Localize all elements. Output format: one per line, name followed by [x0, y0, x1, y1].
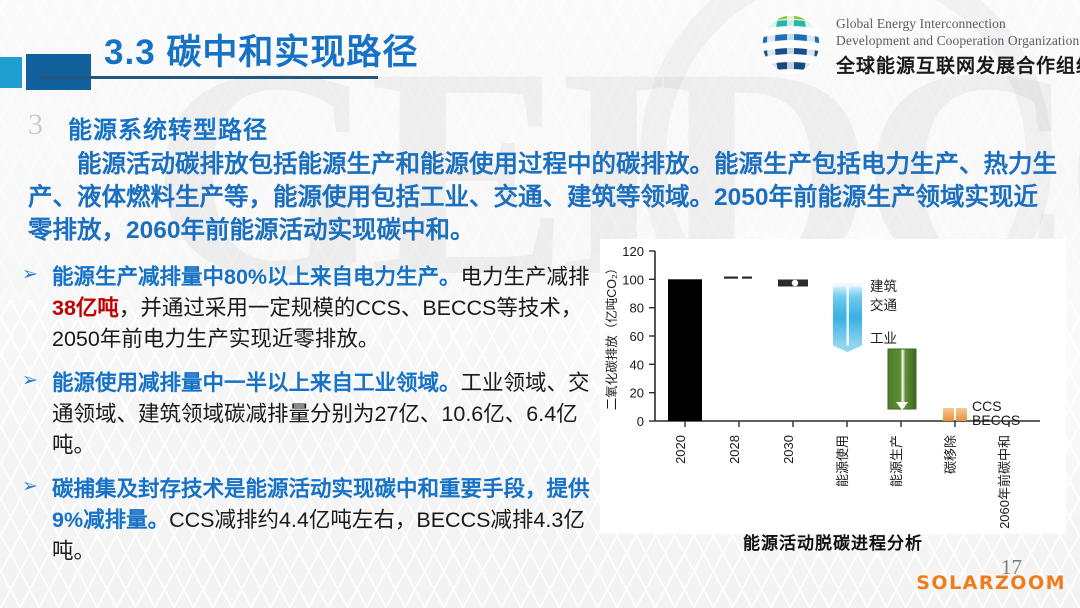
annotation-beccs: BECCS: [972, 412, 1020, 428]
logo-chinese-name: 全球能源互联网发展合作组织: [836, 51, 1080, 78]
bar-2028: [724, 277, 752, 279]
header-accent-navy: [26, 54, 91, 90]
chart-caption: 能源活动脱碳进程分析: [600, 529, 1066, 554]
bullet-text: 碳捕集及封存技术是能源活动实现碳中和重要手段，提供9%减排量。CCS减排约4.4…: [52, 474, 592, 567]
bullet-highlight: 能源使用减排量中一半以上来自工业领域。: [52, 371, 461, 395]
svg-text:碳移除: 碳移除: [943, 435, 958, 474]
intro-paragraph: 能源活动碳排放包括能源生产和能源使用过程中的碳排放。能源生产包括电力生产、热力生…: [28, 148, 1062, 247]
bar-energy-use: [833, 284, 862, 353]
svg-text:能源生产: 能源生产: [889, 435, 904, 487]
bar-energy-production: [888, 349, 916, 410]
list-item: ➢ 能源使用减排量中一半以上来自工业领域。工业领域、交通领域、建筑领域碳减排量分…: [22, 368, 592, 461]
bullet-arrow-icon: ➢: [22, 370, 38, 392]
slide: GEIDCO 3.3 碳中和实现路径: [0, 0, 1080, 608]
svg-text:2028: 2028: [727, 435, 742, 464]
svg-text:2030: 2030: [781, 435, 796, 464]
svg-text:2020: 2020: [673, 435, 688, 464]
page-title: 3.3 碳中和实现路径: [104, 24, 418, 75]
bullet-arrow-icon: ➢: [22, 264, 38, 286]
chart-panel: 120 100 80 60 40 20 0 二氧化碳排放（亿吨CO₂）: [600, 239, 1066, 534]
bullet-text: 能源生产减排量中80%以上来自电力生产。电力生产减排38亿吨，并通过采用一定规模…: [52, 262, 592, 355]
organization-logo: Global Energy Interconnection Developmen…: [758, 10, 1070, 82]
list-item: ➢ 碳捕集及封存技术是能源活动实现碳中和重要手段，提供9%减排量。CCS减排约4…: [22, 474, 592, 567]
bullet-rest-2: ，并通过采用一定规模的CCS、BECCS等技术，2050年前电力生产实现近零排放…: [52, 296, 582, 351]
svg-text:40: 40: [630, 357, 644, 372]
svg-text:80: 80: [630, 301, 644, 316]
y-axis-label: 二氧化碳排放（亿吨CO₂）: [604, 262, 619, 411]
header-accent-cyan: [0, 57, 22, 88]
svg-text:60: 60: [630, 329, 644, 344]
annotation-building: 建筑: [870, 279, 898, 294]
section-title: 能源系统转型路径: [68, 110, 268, 145]
annotation-industry: 工业: [870, 331, 897, 346]
bullet-highlight: 能源生产减排量中80%以上来自电力生产。: [52, 265, 461, 289]
bar-2030: [778, 280, 808, 287]
svg-text:2060年前碳中和: 2060年前碳中和: [997, 435, 1012, 529]
bullet-text: 能源使用减排量中一半以上来自工业领域。工业领域、交通领域、建筑领域碳减排量分别为…: [52, 368, 592, 461]
annotation-transport: 交通: [870, 297, 898, 313]
svg-text:20: 20: [630, 386, 644, 401]
slide-header: 3.3 碳中和实现路径: [0, 0, 1080, 92]
svg-text:100: 100: [622, 272, 644, 287]
section-number: 3: [28, 108, 43, 142]
logo-english-line2: Development and Cooperation Organization: [836, 33, 1079, 49]
bullet-emphasis-red: 38亿吨: [52, 296, 119, 320]
bar-2020: [668, 279, 702, 421]
svg-text:120: 120: [622, 244, 644, 259]
logo-english-line1: Global Energy Interconnection: [836, 16, 1006, 32]
list-item: ➢ 能源生产减排量中80%以上来自电力生产。电力生产减排38亿吨，并通过采用一定…: [22, 262, 592, 355]
bullet-rest-1: 电力生产减排: [461, 265, 590, 289]
bullet-arrow-icon: ➢: [22, 476, 38, 498]
site-watermark: SOLARZOOM: [916, 572, 1066, 594]
svg-text:能源使用: 能源使用: [835, 435, 850, 487]
bullet-list: ➢ 能源生产减排量中80%以上来自电力生产。电力生产减排38亿吨，并通过采用一定…: [22, 262, 592, 580]
globe-logo-icon: [758, 13, 824, 79]
svg-text:0: 0: [637, 414, 644, 429]
header-rule: [40, 76, 378, 79]
decarbonization-chart: 120 100 80 60 40 20 0 二氧化碳排放（亿吨CO₂）: [600, 239, 1066, 534]
